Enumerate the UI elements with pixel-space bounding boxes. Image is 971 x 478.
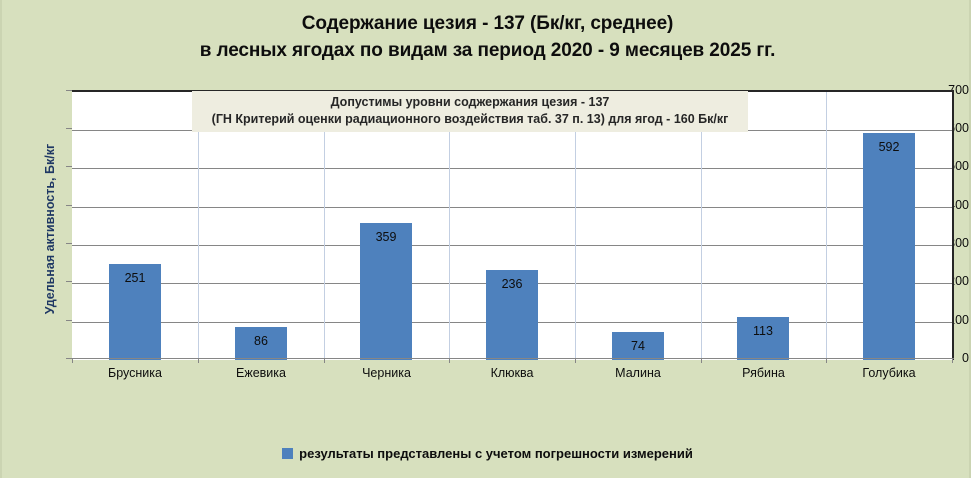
vertical-gridline-4 (575, 92, 576, 360)
legend-label: результаты представлены с учетом погрешн… (299, 446, 693, 461)
category-label-ezhevika: Ежевика (198, 366, 324, 380)
x-tick-mark-3 (449, 358, 450, 363)
category-label-klyukva: Клюква (449, 366, 575, 380)
annotation-textbox: Допустимы уровни соджержания цезия - 137… (192, 91, 748, 132)
x-tick-mark-0 (72, 358, 73, 363)
x-tick-mark-6 (826, 358, 827, 363)
bar-label-ezhevika: 86 (235, 334, 287, 348)
vertical-gridline-3 (449, 92, 450, 360)
annotation-line-1: Допустимы уровни соджержания цезия - 137 (198, 94, 742, 111)
x-tick-mark-4 (575, 358, 576, 363)
gridline-400 (72, 207, 952, 208)
chart-legend: результаты представлены с учетом погрешн… (2, 446, 971, 461)
legend-swatch-icon (282, 448, 293, 459)
y-axis-title: Удельная активность, Бк/кг (43, 89, 57, 369)
chart-title-line-2: в лесных ягодах по видам за период 2020 … (2, 37, 971, 64)
chart-title-line-1: Содержание цезия - 137 (Бк/кг, среднее) (2, 10, 971, 37)
chart-container: Содержание цезия - 137 (Бк/кг, среднее) … (0, 0, 971, 478)
gridline-300 (72, 245, 952, 246)
gridline-500 (72, 168, 952, 169)
category-label-brusnika: Брусника (72, 366, 198, 380)
bar-label-ryabina: 113 (737, 324, 789, 338)
category-label-ryabina: Рябина (701, 366, 826, 380)
vertical-gridline-1 (198, 92, 199, 360)
x-axis-baseline (72, 358, 954, 359)
bar-label-brusnika: 251 (109, 271, 161, 285)
category-label-golubika: Голубика (826, 366, 952, 380)
bar-label-golubika: 592 (863, 140, 915, 154)
bar-label-malina: 74 (612, 339, 664, 353)
x-tick-mark-5 (701, 358, 702, 363)
vertical-gridline-2 (324, 92, 325, 360)
category-label-malina: Малина (575, 366, 701, 380)
vertical-gridline-5 (701, 92, 702, 360)
category-label-chernika: Черника (324, 366, 449, 380)
bar-label-klyukva: 236 (486, 277, 538, 291)
chart-title: Содержание цезия - 137 (Бк/кг, среднее) … (2, 10, 971, 64)
bar-golubika[interactable] (863, 133, 915, 360)
x-tick-mark-7 (952, 358, 953, 363)
bar-label-chernika: 359 (360, 230, 412, 244)
vertical-gridline-6 (826, 92, 827, 360)
x-tick-mark-2 (324, 358, 325, 363)
annotation-line-2: (ГН Критерий оценки радиационного воздей… (198, 111, 742, 128)
x-tick-mark-1 (198, 358, 199, 363)
